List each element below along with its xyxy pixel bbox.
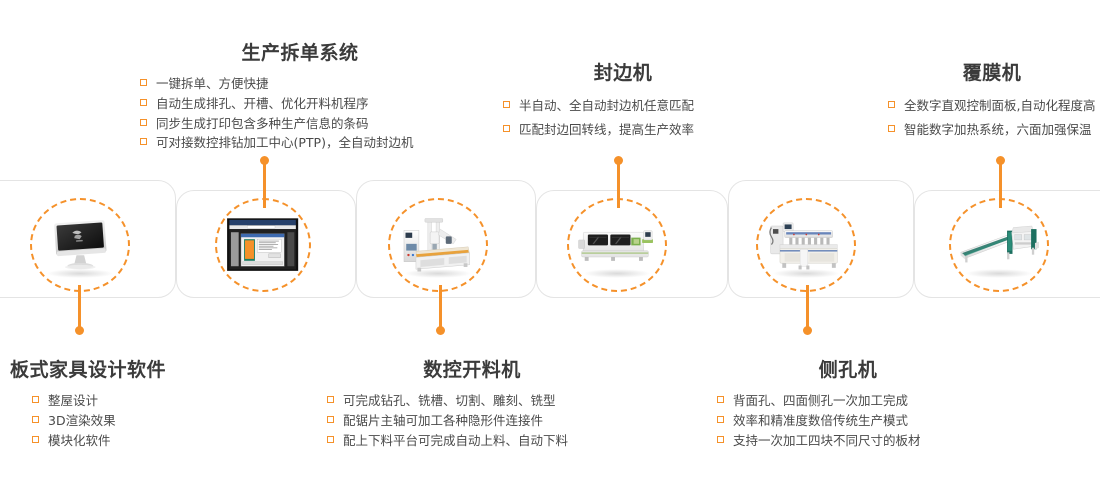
bullet-text: 模块化软件 bbox=[48, 433, 111, 448]
side-drill-icon bbox=[766, 214, 847, 275]
stage-title: 数控开料机 bbox=[327, 355, 617, 382]
stage-node-design-software[interactable] bbox=[30, 198, 130, 292]
bullet-square-icon bbox=[503, 125, 510, 132]
bullet-square-icon bbox=[140, 119, 147, 126]
stage-title: 板式家具设计软件 bbox=[10, 355, 210, 382]
bullet-square-icon bbox=[327, 416, 334, 423]
bullet-text: 全数字直观控制面板,自动化程度高 bbox=[904, 98, 1095, 113]
list-item: 效率和精准度数倍传统生产模式 bbox=[717, 411, 1007, 431]
bullet-text: 可完成钻孔、铣槽、切割、雕刻、铣型 bbox=[343, 393, 556, 408]
stage-node-cnc-cutting-machine[interactable] bbox=[388, 198, 488, 292]
bullet-text: 配上下料平台可完成自动上料、自动下料 bbox=[343, 433, 568, 448]
stage-title: 侧孔机 bbox=[689, 355, 1007, 382]
text-block-side-hole-drilling-machine: 侧孔机 背面孔、四面侧孔一次加工完成 效率和精准度数倍传统生产模式 支持一次加工… bbox=[717, 355, 1007, 450]
connector-dot bbox=[75, 326, 84, 335]
stage-bullet-list: 整屋设计 3D渲染效果 模块化软件 bbox=[10, 391, 210, 450]
bullet-text: 半自动、全自动封边机任意匹配 bbox=[519, 98, 694, 113]
stage-title: 覆膜机 bbox=[876, 58, 1100, 85]
list-item: 可完成钻孔、铣槽、切割、雕刻、铣型 bbox=[327, 391, 617, 411]
bullet-text: 3D渲染效果 bbox=[48, 413, 116, 428]
bullet-text: 支持一次加工四块不同尺寸的板材 bbox=[733, 433, 921, 448]
stage-node-laminating-machine[interactable] bbox=[949, 198, 1049, 292]
stage-bullet-list: 可完成钻孔、铣槽、切割、雕刻、铣型 配锯片主轴可加工各种隐形件连接件 配上下料平… bbox=[327, 391, 617, 450]
laminator-icon bbox=[959, 214, 1040, 275]
connector-dot bbox=[996, 156, 1005, 165]
list-item: 支持一次加工四块不同尺寸的板材 bbox=[717, 431, 1007, 451]
stage-node-edge-banding-machine[interactable] bbox=[567, 198, 667, 292]
bullet-text: 背面孔、四面侧孔一次加工完成 bbox=[733, 393, 908, 408]
photo-shadow bbox=[965, 269, 1033, 278]
software-screen-icon bbox=[224, 214, 301, 275]
production-line-infographic: 板式家具设计软件 整屋设计 3D渲染效果 模块化软件 生产拆单系统 一键拆单、方… bbox=[0, 0, 1100, 495]
stage-node-side-hole-drilling-machine[interactable] bbox=[756, 198, 856, 292]
list-item: 模块化软件 bbox=[32, 431, 210, 451]
stage-bullet-list: 背面孔、四面侧孔一次加工完成 效率和精准度数倍传统生产模式 支持一次加工四块不同… bbox=[717, 391, 1007, 450]
stage-title: 生产拆单系统 bbox=[140, 38, 460, 65]
bullet-square-icon bbox=[32, 396, 39, 403]
bullet-square-icon bbox=[717, 436, 724, 443]
photo-shadow bbox=[404, 269, 472, 278]
bullet-text: 一键拆单、方便快捷 bbox=[156, 76, 269, 91]
list-item: 半自动、全自动封边机任意匹配 bbox=[503, 94, 743, 118]
list-item: 同步生成打印包含多种生产信息的条码 bbox=[140, 114, 460, 134]
bullet-square-icon bbox=[140, 99, 147, 106]
bullet-square-icon bbox=[717, 396, 724, 403]
text-block-cnc-cutting-machine: 数控开料机 可完成钻孔、铣槽、切割、雕刻、铣型 配锯片主轴可加工各种隐形件连接件… bbox=[327, 355, 617, 450]
text-block-laminating-machine: 覆膜机 全数字直观控制面板,自动化程度高 智能数字加热系统，六面加强保温 bbox=[888, 58, 1100, 143]
bullet-square-icon bbox=[32, 436, 39, 443]
stage-bullet-list: 全数字直观控制面板,自动化程度高 智能数字加热系统，六面加强保温 bbox=[888, 94, 1100, 143]
list-item: 自动生成排孔、开槽、优化开料机程序 bbox=[140, 94, 460, 114]
bullet-square-icon bbox=[503, 101, 510, 108]
photo-shadow bbox=[583, 269, 651, 278]
bullet-text: 配锯片主轴可加工各种隐形件连接件 bbox=[343, 413, 543, 428]
connector-dot bbox=[260, 156, 269, 165]
stage-bullet-list: 一键拆单、方便快捷 自动生成排孔、开槽、优化开料机程序 同步生成打印包含多种生产… bbox=[140, 74, 460, 153]
cnc-router-icon bbox=[398, 214, 479, 275]
bullet-text: 可对接数控排钻加工中心(PTP)，全自动封边机 bbox=[156, 135, 413, 150]
photo-shadow bbox=[46, 269, 114, 278]
list-item: 配锯片主轴可加工各种隐形件连接件 bbox=[327, 411, 617, 431]
bullet-text: 匹配封边回转线，提高生产效率 bbox=[519, 122, 694, 137]
stage-node-order-splitting-system[interactable] bbox=[215, 198, 311, 292]
connector-dot bbox=[614, 156, 623, 165]
bullet-square-icon bbox=[888, 125, 895, 132]
edge-bander-icon bbox=[577, 214, 658, 275]
list-item: 3D渲染效果 bbox=[32, 411, 210, 431]
bullet-square-icon bbox=[32, 416, 39, 423]
bullet-square-icon bbox=[717, 416, 724, 423]
text-block-design-software: 板式家具设计软件 整屋设计 3D渲染效果 模块化软件 bbox=[10, 355, 210, 450]
imac-computer-icon bbox=[40, 214, 121, 275]
bullet-square-icon bbox=[327, 396, 334, 403]
bullet-text: 智能数字加热系统，六面加强保温 bbox=[904, 122, 1092, 137]
bullet-text: 自动生成排孔、开槽、优化开料机程序 bbox=[156, 96, 369, 111]
stage-title: 封边机 bbox=[503, 58, 743, 85]
connector-dot bbox=[436, 326, 445, 335]
list-item: 背面孔、四面侧孔一次加工完成 bbox=[717, 391, 1007, 411]
connector-dot bbox=[803, 326, 812, 335]
bullet-square-icon bbox=[888, 101, 895, 108]
text-block-edge-banding-machine: 封边机 半自动、全自动封边机任意匹配 匹配封边回转线，提高生产效率 bbox=[503, 58, 743, 143]
bullet-square-icon bbox=[140, 79, 147, 86]
stage-bullet-list: 半自动、全自动封边机任意匹配 匹配封边回转线，提高生产效率 bbox=[503, 94, 743, 143]
list-item: 整屋设计 bbox=[32, 391, 210, 411]
bullet-square-icon bbox=[327, 436, 334, 443]
photo-shadow bbox=[772, 269, 840, 278]
list-item: 配上下料平台可完成自动上料、自动下料 bbox=[327, 431, 617, 451]
bullet-square-icon bbox=[140, 138, 147, 145]
list-item: 一键拆单、方便快捷 bbox=[140, 74, 460, 94]
list-item: 智能数字加热系统，六面加强保温 bbox=[888, 118, 1100, 142]
text-block-order-splitting-system: 生产拆单系统 一键拆单、方便快捷 自动生成排孔、开槽、优化开料机程序 同步生成打… bbox=[140, 38, 460, 153]
bullet-text: 效率和精准度数倍传统生产模式 bbox=[733, 413, 908, 428]
list-item: 全数字直观控制面板,自动化程度高 bbox=[888, 94, 1100, 118]
bullet-text: 同步生成打印包含多种生产信息的条码 bbox=[156, 116, 369, 131]
list-item: 匹配封边回转线，提高生产效率 bbox=[503, 118, 743, 142]
bullet-text: 整屋设计 bbox=[48, 393, 98, 408]
list-item: 可对接数控排钻加工中心(PTP)，全自动封边机 bbox=[140, 133, 460, 153]
